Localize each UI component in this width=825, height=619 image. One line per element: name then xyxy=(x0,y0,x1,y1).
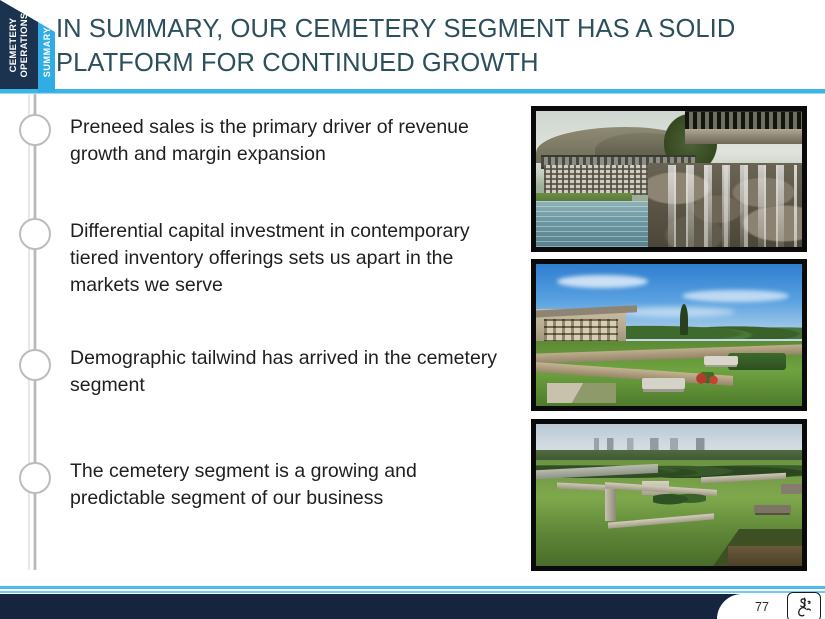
section-label-line-2: OPERATIONS xyxy=(19,12,30,77)
section-label: CEMETERY OPERATIONS xyxy=(8,12,30,77)
page-title: IN SUMMARY, OUR CEMETERY SEGMENT HAS A S… xyxy=(56,12,756,80)
timeline-node-3 xyxy=(19,349,51,381)
footer-divider-low xyxy=(0,591,825,593)
summary-tab: SUMMARY xyxy=(38,0,55,92)
photo-cemetery-lawn xyxy=(531,419,807,571)
summary-tab-label: SUMMARY xyxy=(42,26,52,76)
timeline-spine xyxy=(33,93,37,570)
sci-logo-icon xyxy=(787,592,821,619)
bullet-item-4: The cemetery segment is a growing and pr… xyxy=(70,458,510,512)
bullet-item-3: Demographic tailwind has arrived in the … xyxy=(70,345,510,399)
timeline-node-1 xyxy=(19,114,51,146)
presentation-slide: CEMETERY OPERATIONS SUMMARY IN SUMMARY, … xyxy=(0,0,825,619)
photo-waterfall-image xyxy=(536,111,802,247)
photo-cemetery-lawn-image xyxy=(536,424,802,566)
section-label-line-1: CEMETERY xyxy=(8,12,19,77)
timeline-node-2 xyxy=(19,218,51,250)
section-corner-wedge: CEMETERY OPERATIONS xyxy=(0,0,38,89)
timeline-node-4 xyxy=(19,462,51,494)
photo-waterfall xyxy=(531,106,807,252)
bullet-item-1: Preneed sales is the primary driver of r… xyxy=(70,114,510,168)
page-number: 77 xyxy=(745,594,779,619)
title-divider-thin xyxy=(0,93,825,94)
photo-memorial-garden xyxy=(531,259,807,411)
footer-bar xyxy=(0,594,825,619)
photo-memorial-garden-image xyxy=(536,264,802,406)
bullet-item-2: Differential capital investment in conte… xyxy=(70,218,510,299)
